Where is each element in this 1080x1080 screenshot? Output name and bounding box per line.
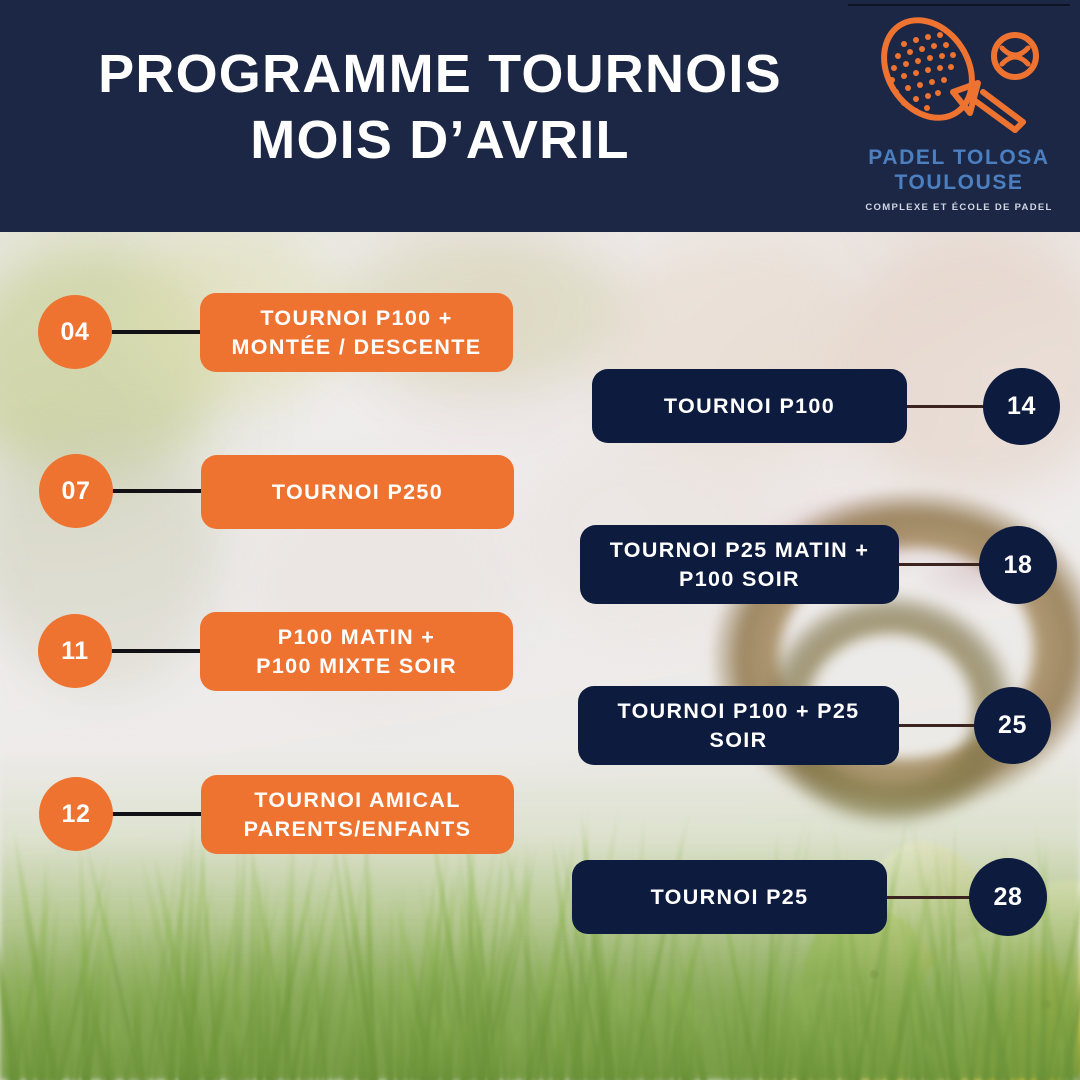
brand-name-line2: TOULOUSE [894,171,1023,194]
connector-line [110,812,207,816]
padel-ball-icon [994,35,1036,77]
brand-name: PADEL TOLOSA TOULOUSE [852,146,1066,196]
page-title-line1: PROGRAMME TOURNOIS [98,44,782,104]
page-title-line2: MOIS D’AVRIL [60,108,820,174]
header-divider-rule [848,4,1070,6]
event-day-badge[interactable]: 11 [38,614,112,688]
connector-line [893,405,993,408]
event-day-badge[interactable]: 12 [39,777,113,851]
brand-logo: PADEL TOLOSA TOULOUSE COMPLEXE ET ÉCOLE … [852,14,1066,226]
event-day-badge[interactable]: 18 [979,526,1057,604]
padel-racket-icon [852,14,1066,146]
connector-line [108,330,208,334]
event-label-card[interactable]: TOURNOI AMICAL PARENTS/ENFANTS [201,775,514,854]
connector-line [109,649,208,653]
event-day-badge[interactable]: 25 [974,687,1051,764]
brand-tagline: COMPLEXE ET ÉCOLE DE PADEL [852,202,1066,213]
event-label-card[interactable]: P100 MATIN + P100 MIXTE SOIR [200,612,513,691]
connector-line [898,563,992,566]
event-label-card[interactable]: TOURNOI P25 [572,860,887,934]
event-day-badge[interactable]: 07 [39,454,113,528]
event-label-card[interactable]: TOURNOI P100 [592,369,907,443]
event-day-badge[interactable]: 04 [38,295,112,369]
connector-line [884,896,982,899]
page-title: PROGRAMME TOURNOIS MOIS D’AVRIL [60,42,820,174]
header-bar: PROGRAMME TOURNOIS MOIS D’AVRIL [0,0,1080,232]
event-label-card[interactable]: TOURNOI P250 [201,455,514,529]
poster-canvas: PROGRAMME TOURNOIS MOIS D’AVRIL [0,0,1080,1080]
event-label-card[interactable]: TOURNOI P100 + P25 SOIR [578,686,899,765]
brand-name-line1: PADEL TOLOSA [868,146,1049,169]
event-day-badge[interactable]: 14 [983,368,1060,445]
event-label-card[interactable]: TOURNOI P100 + MONTÉE / DESCENTE [200,293,513,372]
event-day-badge[interactable]: 28 [969,858,1047,936]
connector-line [110,489,208,493]
event-label-card[interactable]: TOURNOI P25 MATIN + P100 SOIR [580,525,899,604]
grass-haze [0,930,1080,1080]
